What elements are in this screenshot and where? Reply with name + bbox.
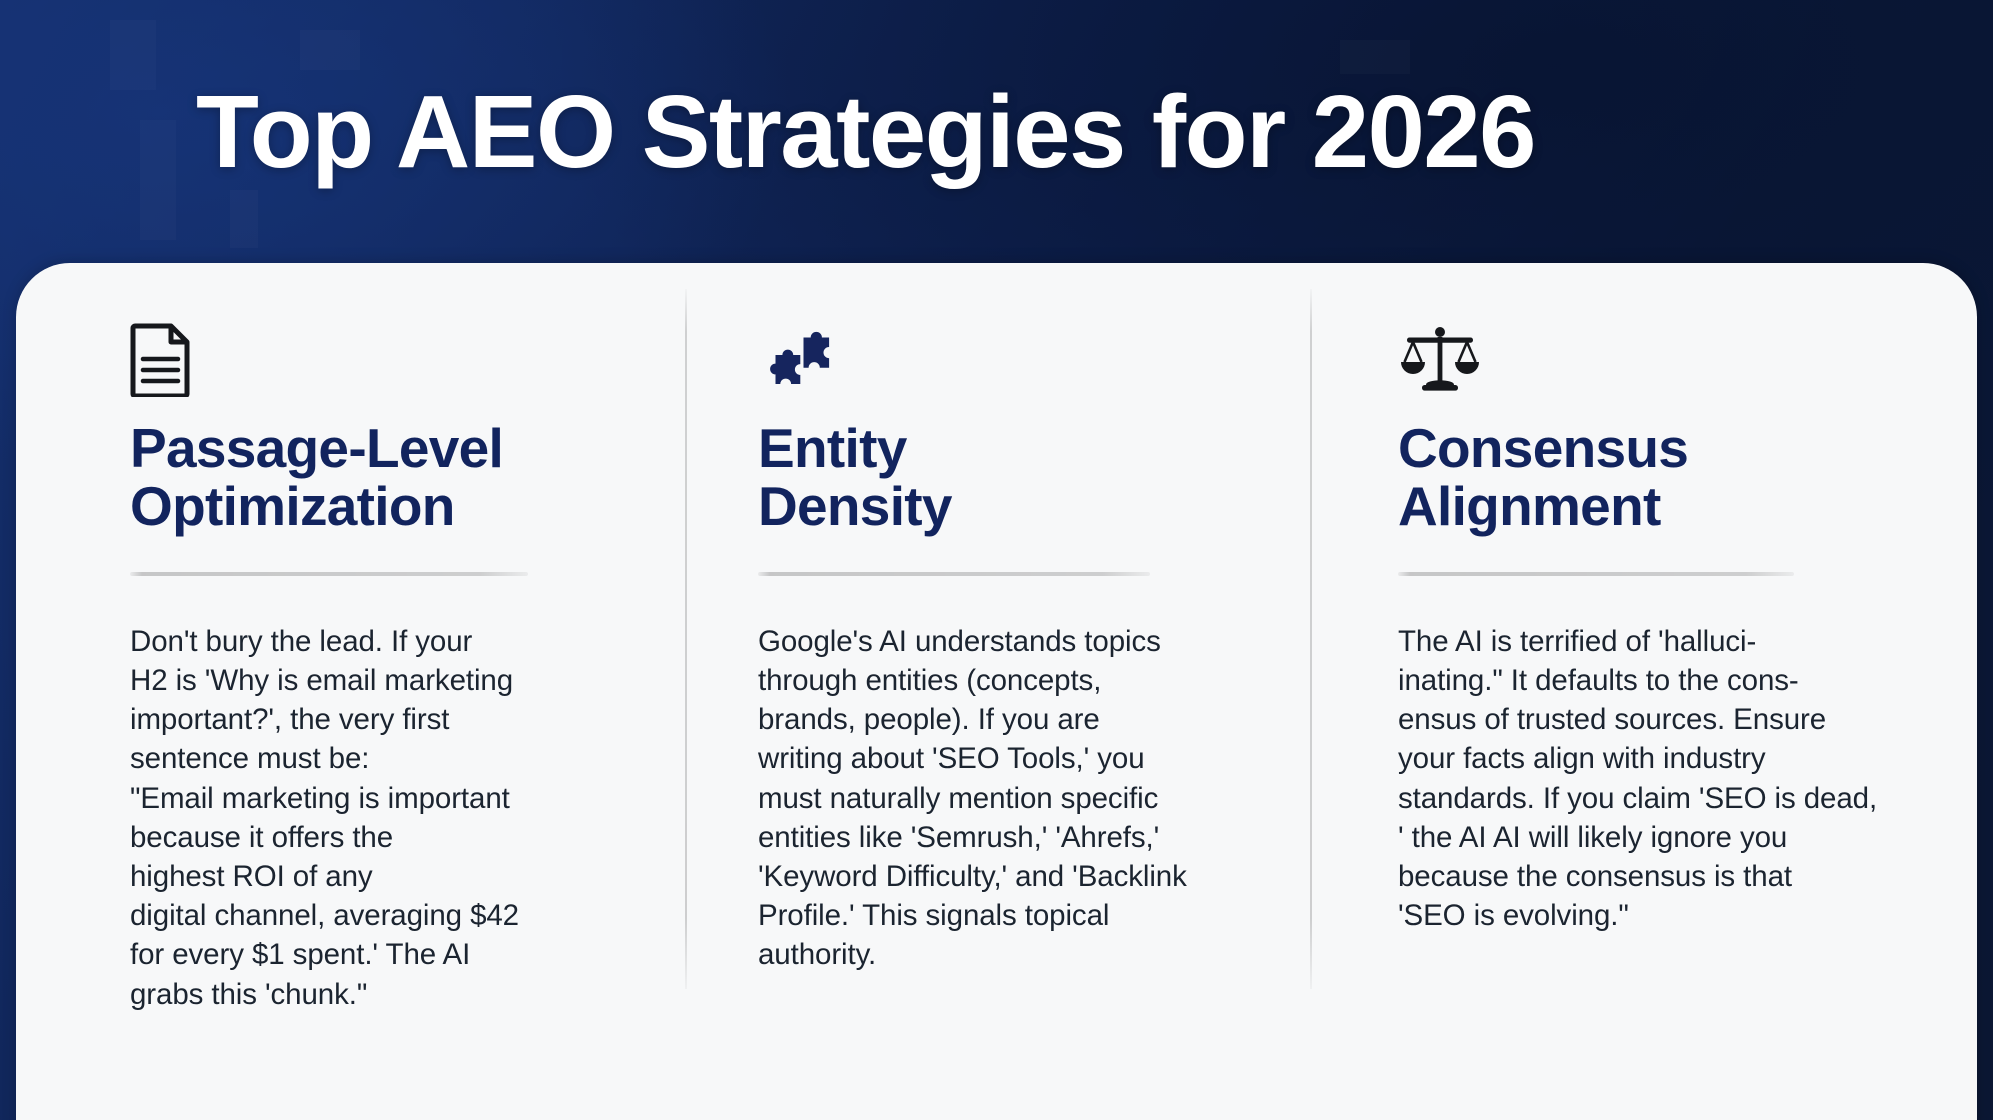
columns-container: Passage-Level Optimization Don't bury th… (16, 263, 1977, 1120)
column-body-text: Don't bury the lead. If your H2 is 'Why … (130, 622, 628, 1014)
puzzle-pieces-icon (758, 319, 1288, 397)
column-body-text: The AI is terrified of 'halluci- inating… (1398, 622, 1937, 936)
column-body-text: Google's AI understands topics through e… (758, 622, 1288, 975)
column-heading: Passage-Level Optimization (130, 419, 628, 536)
strategy-column-passage-level: Passage-Level Optimization Don't bury th… (16, 319, 688, 1120)
column-heading: Consensus Alignment (1398, 419, 1937, 536)
strategy-column-entity-density: Entity Density Google's AI understands t… (688, 319, 1328, 1120)
balance-scales-icon (1398, 319, 1937, 397)
page-title: Top AEO Strategies for 2026 (196, 80, 1535, 183)
column-heading: Entity Density (758, 419, 1288, 536)
heading-rule (130, 572, 528, 576)
heading-rule (1398, 572, 1794, 576)
infographic-stage: Top AEO Strategies for 2026 Passage-Leve… (0, 0, 1993, 1120)
heading-rule (758, 572, 1150, 576)
strategy-column-consensus-alignment: Consensus Alignment The AI is terrified … (1328, 319, 1977, 1120)
document-icon (130, 319, 628, 397)
header-band: Top AEO Strategies for 2026 (0, 0, 1993, 263)
content-card: Passage-Level Optimization Don't bury th… (16, 263, 1977, 1120)
